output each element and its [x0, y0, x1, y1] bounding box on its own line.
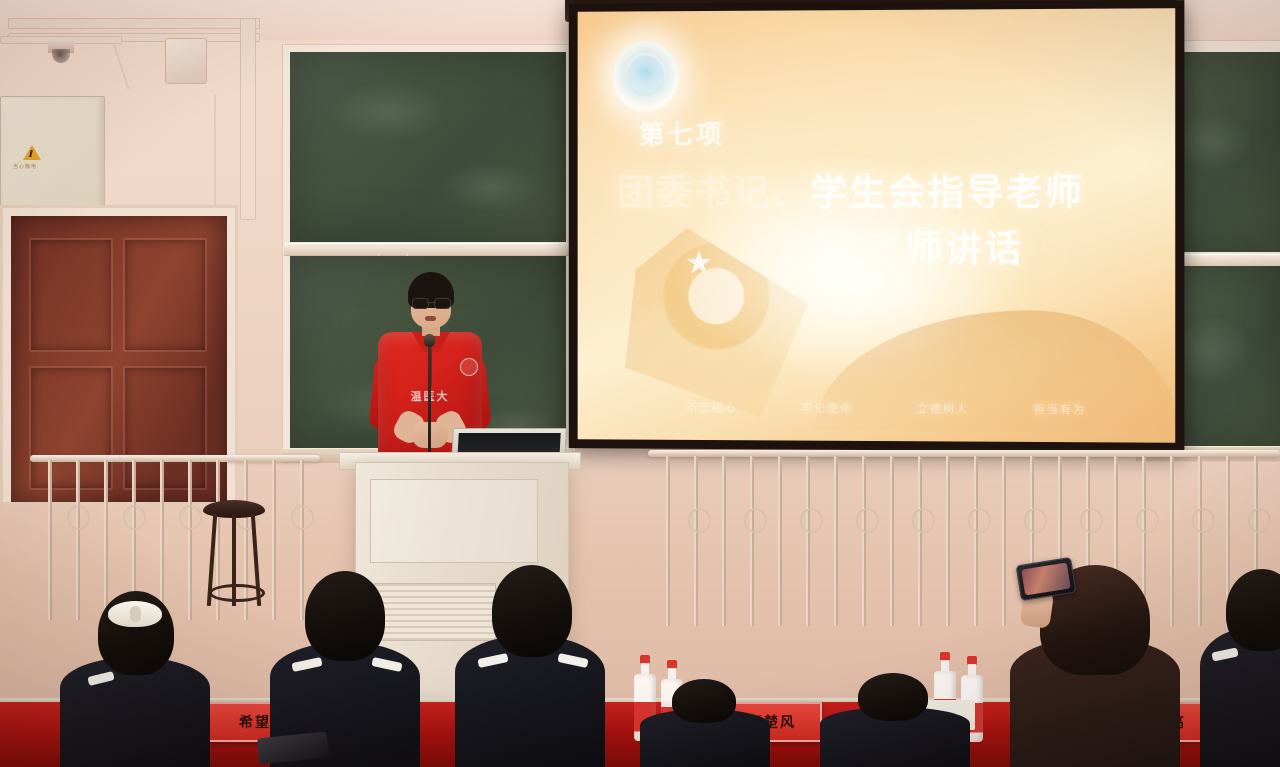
microphone-icon — [424, 334, 435, 347]
slide-title-line2: 老师讲话 — [716, 218, 1175, 272]
wooden-door[interactable] — [11, 216, 227, 502]
podium-front-panel — [370, 479, 538, 563]
door-panel — [29, 366, 113, 490]
slide-footnote: 不忘初心 牢记使命 立德树人 担当有为 — [686, 399, 1086, 417]
electrical-cabinet: 当心触电 — [0, 96, 105, 218]
stool-footring — [209, 584, 265, 602]
slide-kicker: 第七项 — [639, 114, 725, 151]
door-frame — [0, 205, 238, 505]
slide-footnote-item: 立德树人 — [917, 400, 969, 416]
wall-speaker-icon — [165, 38, 207, 84]
lecture-hall-photo: 当心触电 — [0, 0, 1280, 767]
blackboard-center-upper — [290, 52, 566, 242]
door-panel — [29, 238, 113, 352]
podium-vent-grille — [374, 583, 496, 641]
security-camera-icon — [48, 38, 74, 53]
cable-conduit — [240, 18, 256, 220]
name-placard-text: 希望 — [239, 712, 271, 732]
audience-head — [672, 679, 736, 723]
door-panel — [123, 238, 207, 352]
microphone-stand — [428, 342, 431, 460]
slide-title-line1: 团委书记、学生会指导老师 — [617, 162, 1157, 217]
audience-head — [305, 571, 385, 661]
speaker-mouth — [425, 316, 436, 321]
slide-footnote-item: 担当有为 — [1034, 401, 1086, 417]
audience-head — [492, 565, 572, 657]
audience-head — [858, 673, 928, 721]
electric-hazard-icon — [23, 145, 41, 160]
projector-screen: 第七项 团委书记、学生会指导老师 老师讲话 不忘初心 牢记使命 立德树人 担当有… — [578, 8, 1176, 443]
slide-footnote-item: 不忘初心 — [686, 399, 738, 415]
warning-label: 当心触电 — [13, 163, 37, 170]
slide-footnote-item: 牢记使命 — [801, 400, 853, 416]
blackboard-slide-rail — [284, 243, 572, 256]
slide-title-line1-dim: 团委书记、 — [617, 172, 810, 213]
glasses-icon — [411, 298, 452, 307]
university-emblem-icon — [613, 41, 678, 113]
slide-title-line2-dim: 老 — [867, 228, 906, 269]
wooden-stool — [203, 500, 265, 615]
hanging-cable — [214, 95, 216, 215]
hair-bow — [108, 601, 162, 627]
slide-title-line2-bright: 师讲话 — [906, 228, 1023, 269]
sleeve-badge-icon — [460, 358, 478, 376]
slide-title-line1-bright: 学生会指导老师 — [810, 172, 1084, 213]
cable-conduit — [8, 18, 260, 29]
projector-screen-border: 第七项 团委书记、学生会指导老师 老师讲话 不忘初心 牢记使命 立德树人 担当有… — [569, 0, 1185, 452]
door-panel — [123, 366, 207, 490]
